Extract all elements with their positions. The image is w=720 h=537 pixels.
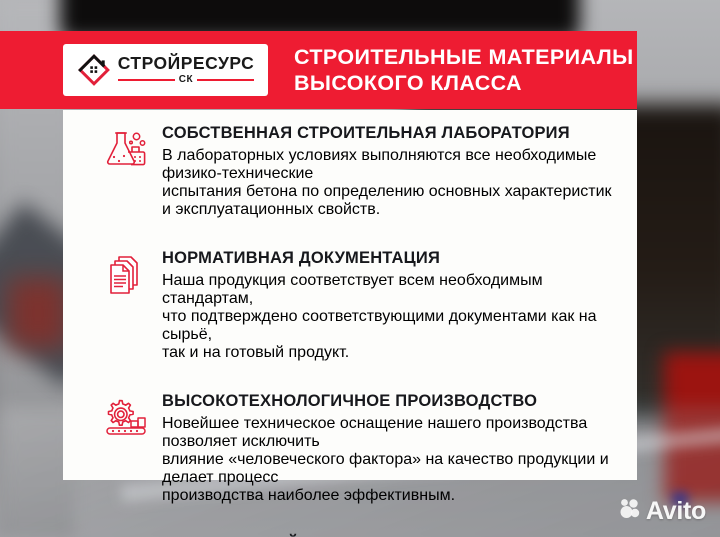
feature-title: ВЫСОКОТЕХНОЛОГИЧНОЕ ПРОИЗВОДСТВО: [162, 392, 615, 410]
avito-dots-icon: [619, 498, 641, 525]
banner-headline-line-1: СТРОИТЕЛЬНЫЕ МАТЕРИАЛЫ: [294, 44, 634, 70]
avito-label: Avito: [646, 499, 706, 524]
feature-title: НОРМАТИВНАЯ ДОКУМЕНТАЦИЯ: [162, 249, 615, 267]
logo-rule-right: [197, 79, 254, 81]
logo-rule-left: [118, 79, 175, 81]
avito-watermark: Avito: [619, 498, 706, 525]
feature-description-line: так и на готовый продукт.: [162, 344, 615, 362]
feature-description-line: и эксплуатационных свойств.: [162, 201, 615, 219]
documents-stack-icon: [99, 249, 153, 295]
house-diamond-logomark: [77, 53, 111, 87]
feature-description-line: что подтверждено соответствующими докуме…: [162, 308, 615, 344]
logo-main-word: СТРОЙРЕСУРС: [118, 55, 255, 73]
feature-item: НОРМАТИВНАЯ ДОКУМЕНТАЦИЯ Наша продукция …: [99, 249, 615, 378]
feature-item: ВЫСОКОТЕХНОЛОГИЧНОЕ ПРОИЗВОДСТВО Новейше…: [99, 392, 615, 521]
features-card: СОБСТВЕННАЯ СТРОИТЕЛЬНАЯ ЛАБОРАТОРИЯ В л…: [63, 110, 637, 480]
feature-description-line: испытания бетона по определению основных…: [162, 183, 615, 201]
company-logo: СТРОЙРЕСУРС СК: [63, 44, 268, 96]
header-banner: СТРОЙРЕСУРС СК СТРОИТЕЛЬНЫЕ МАТЕРИАЛЫ ВЫ…: [0, 31, 637, 109]
gear-conveyor-icon: [99, 392, 153, 438]
banner-headline: СТРОИТЕЛЬНЫЕ МАТЕРИАЛЫ ВЫСОКОГО КЛАССА: [294, 44, 634, 96]
feature-item: СОБСТВЕННАЯ СТРОИТЕЛЬНАЯ ЛАБОРАТОРИЯ В л…: [99, 124, 615, 235]
feature-description-line: Наша продукция соответствует всем необхо…: [162, 272, 615, 308]
promo-image-screen: СТРОЙРЕСУРС СК СТРОИТЕЛЬНЫЕ МАТЕРИАЛЫ ВЫ…: [0, 0, 720, 537]
feature-description-line: В лабораторных условиях выполняются все …: [162, 147, 615, 183]
feature-description-line: производства наиболее эффективным.: [162, 487, 615, 505]
banner-headline-line-2: ВЫСОКОГО КЛАССА: [294, 70, 634, 96]
feature-title: СОБСТВЕННАЯ СТРОИТЕЛЬНАЯ ЛАБОРАТОРИЯ: [162, 124, 615, 142]
feature-description-line: влияние «человеческого фактора» на качес…: [162, 451, 615, 487]
logo-sub-word: СК: [179, 75, 194, 85]
lab-flask-icon: [99, 124, 153, 170]
feature-description-line: Новейшее техническое оснащение нашего пр…: [162, 415, 615, 451]
